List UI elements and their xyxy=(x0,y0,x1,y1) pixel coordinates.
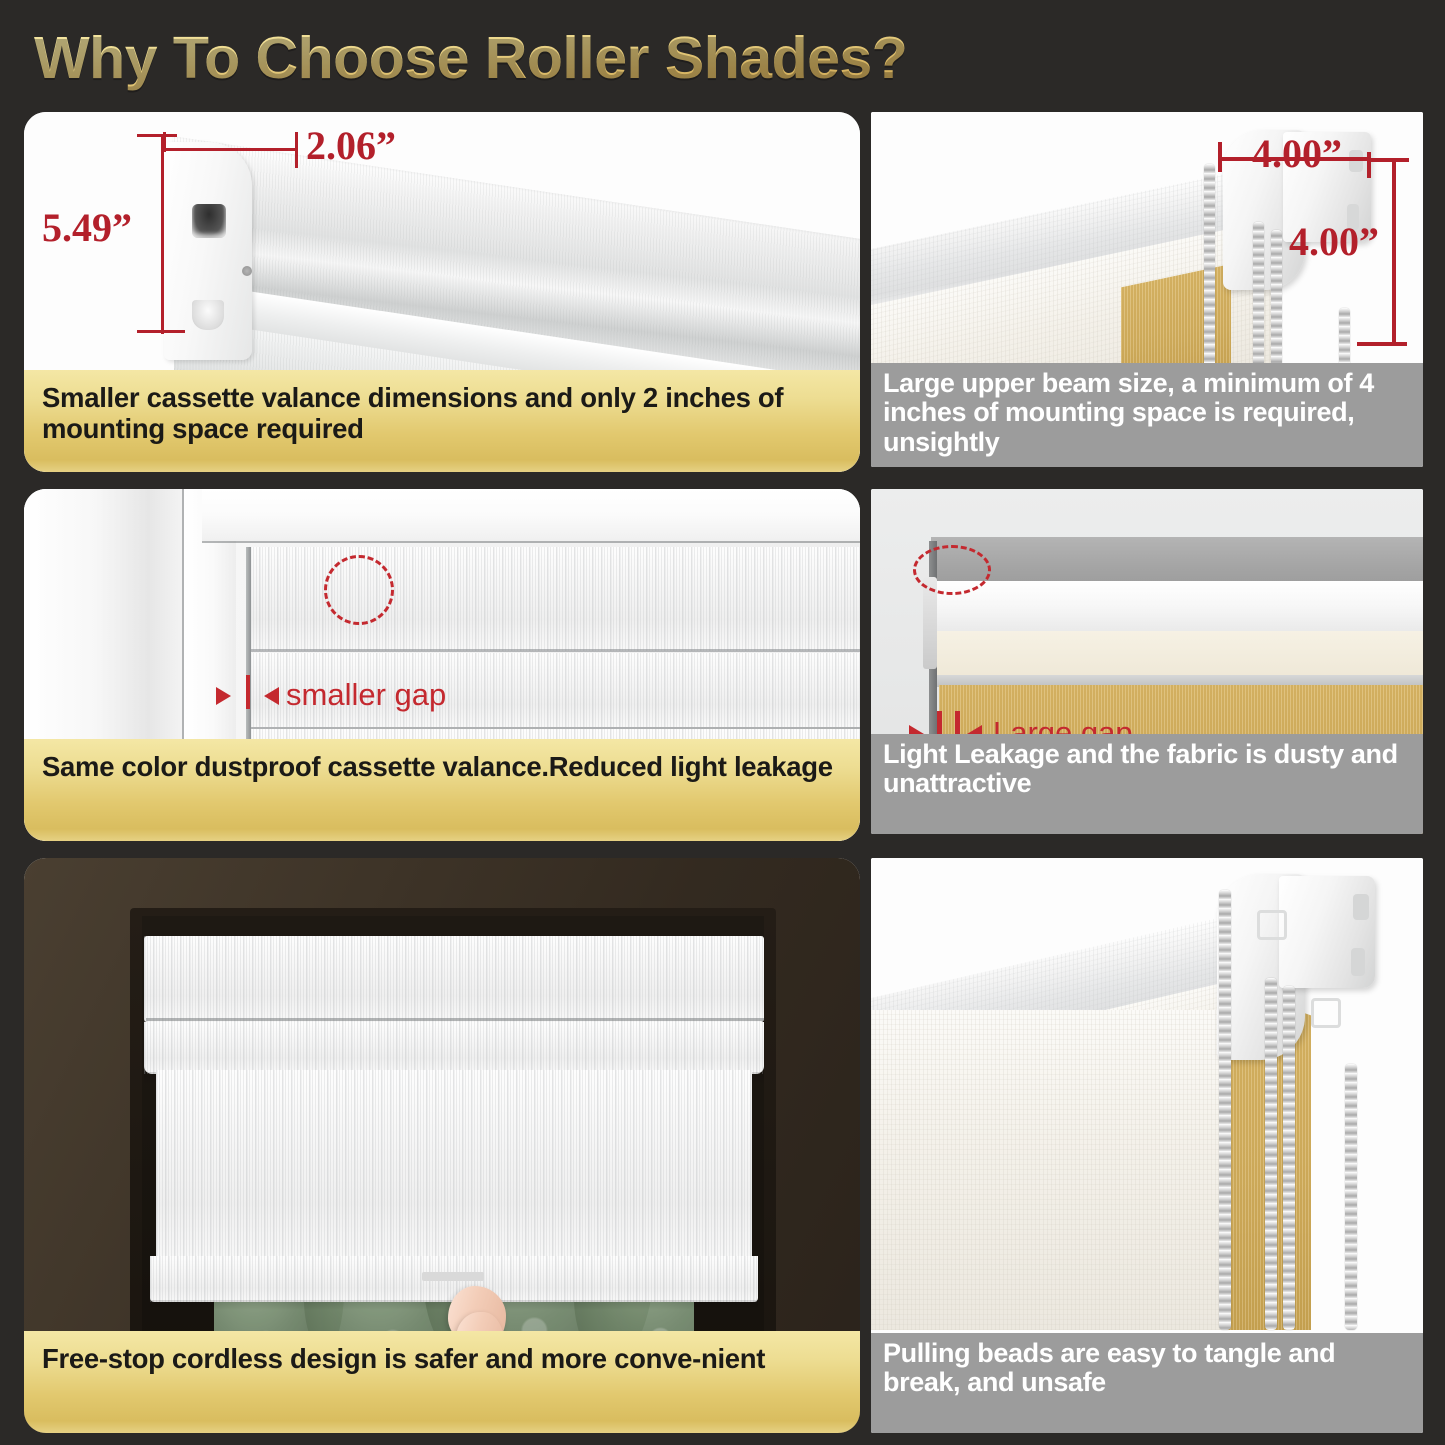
beam-height-tick-top xyxy=(1369,158,1409,162)
panel-cordless-design: Free-stop cordless design is safer and m… xyxy=(24,858,860,1433)
panel-smaller-cassette: 2.06” 5.49” Smaller cassette valance dim… xyxy=(24,112,860,472)
panel-2-caption-text: Large upper beam size, a minimum of 4 in… xyxy=(883,369,1411,457)
end-cap-screw xyxy=(242,266,252,276)
cream-fabric-strip xyxy=(937,631,1423,679)
panel-4-caption: Light Leakage and the fabric is dusty an… xyxy=(871,734,1423,834)
panel-pulling-beads: Pulling beads are easy to tangle and bre… xyxy=(871,858,1423,1433)
smaller-gap-label: smaller gap xyxy=(286,677,446,713)
bead-chain-2 xyxy=(1265,978,1277,1330)
beam-height-label: 4.00” xyxy=(1289,218,1379,265)
bracket-emblem-bottom xyxy=(1311,998,1341,1028)
panel-large-beam: 4.00” 4.00” Large upper beam size, a min… xyxy=(871,112,1423,467)
highlight-ellipse-large-gap xyxy=(913,545,991,595)
panel-5-caption-text: Free-stop cordless design is safer and m… xyxy=(42,1343,765,1374)
shade-fabric-main xyxy=(156,1070,752,1262)
height-dim-tick-top xyxy=(137,134,177,137)
beam-height-tick-bottom xyxy=(1357,342,1407,346)
panel-6-caption: Pulling beads are easy to tangle and bre… xyxy=(871,1333,1423,1433)
height-dim-tick-bottom xyxy=(137,330,185,333)
shade-brand-tag xyxy=(422,1272,484,1281)
panel-dustproof-valance: smaller gap Same color dustproof cassett… xyxy=(24,489,860,841)
beam-width-label: 4.00” xyxy=(1252,130,1342,177)
shade-head-rail xyxy=(144,936,764,1022)
gap-arrow-left xyxy=(216,687,231,705)
bracket-slot-top xyxy=(1349,150,1363,172)
beam-height-dim-line xyxy=(1392,158,1396,346)
bracket-slot-bottom-2 xyxy=(1351,948,1365,976)
valance-bar xyxy=(935,581,1423,637)
end-cap-slot xyxy=(192,204,226,238)
window-top-casing xyxy=(202,489,860,541)
highlight-ellipse-small-gap xyxy=(324,555,394,625)
panel-3-caption-text: Same color dustproof cassette valance.Re… xyxy=(42,751,833,782)
panel-1-caption: Smaller cassette valance dimensions and … xyxy=(24,370,860,472)
panel-1-caption-text: Smaller cassette valance dimensions and … xyxy=(42,382,842,445)
panel-2-caption: Large upper beam size, a minimum of 4 in… xyxy=(871,363,1423,467)
end-cap-knob xyxy=(192,300,224,330)
bracket-emblem-top xyxy=(1257,910,1287,940)
beam-width-tick-left xyxy=(1218,142,1222,172)
panel-5-caption: Free-stop cordless design is safer and m… xyxy=(24,1331,860,1433)
panel-light-leakage: Large gap Light Leakage and the fabric i… xyxy=(871,489,1423,834)
beam-width-tick-right xyxy=(1367,152,1371,178)
bead-chain-4 xyxy=(1345,1064,1357,1330)
panel-6-caption-text: Pulling beads are easy to tangle and bre… xyxy=(883,1339,1411,1398)
bead-chain-3 xyxy=(1283,986,1295,1330)
shade-bottom-rail-top xyxy=(144,1022,764,1074)
bead-chain-1 xyxy=(1219,890,1231,1330)
bracket-slot-top-2 xyxy=(1353,894,1369,920)
width-dim-line xyxy=(163,148,298,151)
width-dimension-label: 2.06” xyxy=(306,122,396,169)
width-dim-tick-right xyxy=(295,132,298,168)
panel-3-caption: Same color dustproof cassette valance.Re… xyxy=(24,739,860,841)
height-dimension-label: 5.49” xyxy=(42,204,132,251)
gap-arrow-right xyxy=(264,687,279,705)
height-dim-line xyxy=(161,134,164,334)
panel-4-caption-text: Light Leakage and the fabric is dusty an… xyxy=(883,740,1411,799)
gap-tick xyxy=(246,675,250,709)
comparison-grid: 2.06” 5.49” Smaller cassette valance dim… xyxy=(0,0,1445,1445)
hanging-fabric-white xyxy=(871,1010,1227,1330)
